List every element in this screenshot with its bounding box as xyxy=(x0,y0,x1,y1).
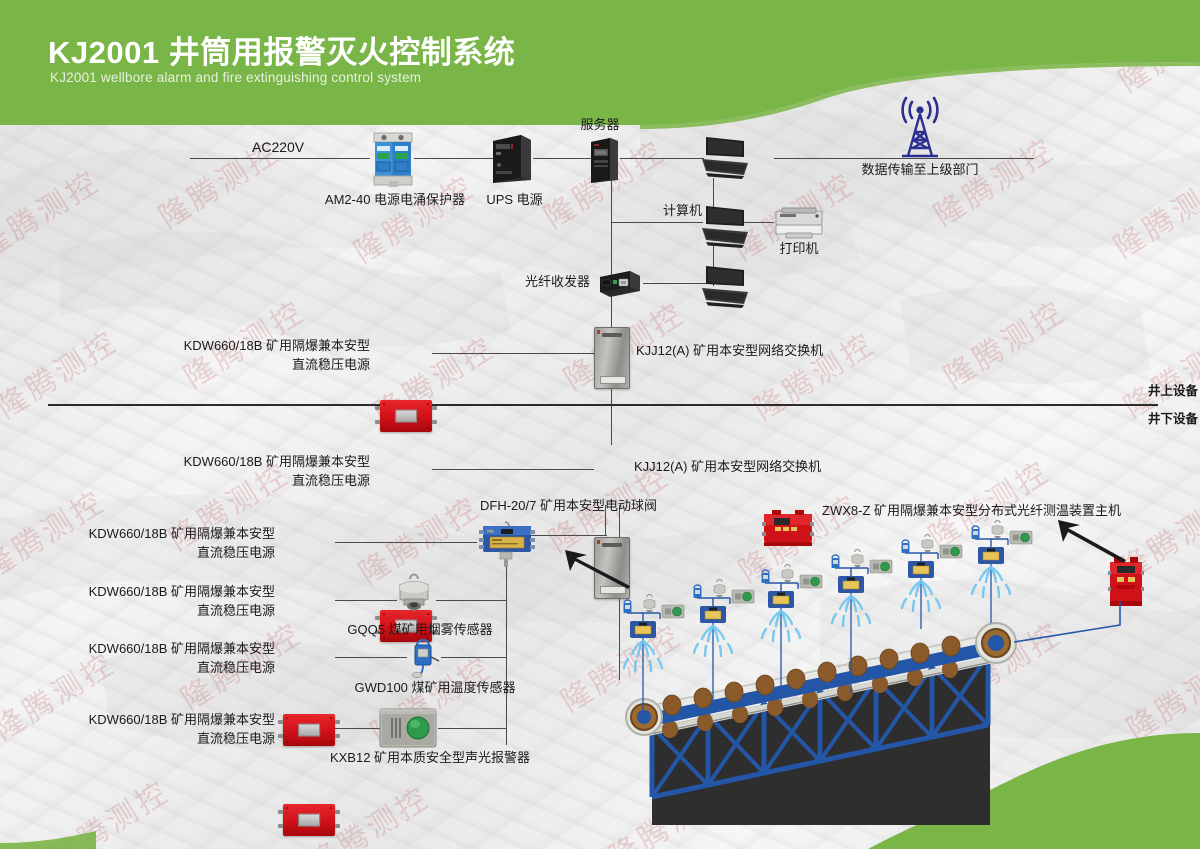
wire-spd-to-ups xyxy=(414,158,494,159)
ball-valve-dfh: MA xyxy=(475,520,539,568)
label-power-supply-underground-1: KDW660/18B 矿用隔爆兼本安型 直流稳压电源 xyxy=(110,452,370,490)
computer-workstation-3 xyxy=(700,264,752,310)
wire-psu-to-switch-surface xyxy=(432,353,594,354)
label-surface-equipment: 井上设备 xyxy=(1148,382,1198,401)
wire-fiber-to-pc3 xyxy=(643,283,707,284)
page-title: KJ2001 井筒用报警灭火控制系统 xyxy=(48,27,515,72)
temperature-sensor-gwd100 xyxy=(403,637,443,681)
diagram-canvas: 隆腾测控 隆腾测控 隆腾测控 隆腾测控 隆腾测控 隆腾测控 隆腾测控 隆腾测控 … xyxy=(0,0,1200,849)
label-alarm: KXB12 矿用本质安全型声光报警器 xyxy=(300,748,560,767)
label-power-supply-surface: KDW660/18B 矿用隔爆兼本安型 直流稳压电源 xyxy=(110,336,370,374)
label-power-supply-underground-4: KDW660/18B 矿用隔爆兼本安型 直流稳压电源 xyxy=(15,639,275,677)
wire-psu3-to-smoke xyxy=(335,600,397,601)
audible-visual-alarm-kxb12 xyxy=(378,707,438,749)
page-subtitle: KJ2001 wellbore alarm and fire extinguis… xyxy=(50,70,421,85)
label-ac-input: AC220V xyxy=(252,138,304,157)
wire-ac-to-spd xyxy=(190,158,370,159)
label-server: 服务器 xyxy=(560,115,640,134)
wire-smoke-to-trunk xyxy=(436,600,506,601)
wire-psu1-to-switch-underground xyxy=(432,469,594,470)
pointer-arrow-dts xyxy=(1050,518,1130,564)
surface-underground-divider xyxy=(48,404,1158,406)
label-power-supply-underground-5: KDW660/18B 矿用隔爆兼本安型 直流稳压电源 xyxy=(15,710,275,748)
antenna-tower-icon xyxy=(888,98,952,160)
label-smoke-sensor: GQQ5 煤矿用烟雾传感器 xyxy=(330,620,510,639)
label-power-supply-underground-3: KDW660/18B 矿用隔爆兼本安型 直流稳压电源 xyxy=(15,582,275,620)
wire-bus-to-pc2 xyxy=(611,222,703,223)
smoke-sensor-gqq5 xyxy=(392,573,436,621)
spd-device-am2-40 xyxy=(370,131,416,189)
svg-text:MA: MA xyxy=(487,529,495,535)
network-switch-surface xyxy=(594,327,630,389)
wire-psu4-to-temp xyxy=(335,657,407,658)
wire-server-to-pc1 xyxy=(620,158,704,159)
power-supply-underground-2 xyxy=(283,714,335,746)
wire-valve-down xyxy=(506,567,507,745)
label-temperature-sensor: GWD100 煤矿用温度传感器 xyxy=(340,678,530,697)
wire-alarm-to-trunk xyxy=(438,728,506,729)
wire-psu5-to-alarm xyxy=(335,728,380,729)
fiber-transceiver-device xyxy=(596,267,644,299)
printer-device xyxy=(772,207,826,241)
computer-workstation-2 xyxy=(700,204,752,250)
label-power-supply-underground-2: KDW660/18B 矿用隔爆兼本安型 直流稳压电源 xyxy=(15,524,275,562)
wire-psu2-to-valve xyxy=(335,542,477,543)
label-ups: UPS 电源 xyxy=(462,190,567,209)
power-supply-underground-3 xyxy=(283,804,335,836)
conveyor-belt-scene xyxy=(600,535,1200,849)
label-switch-surface: KJJ12(A) 矿用本安型网络交换机 xyxy=(636,341,823,360)
pointer-arrow-valve xyxy=(560,548,634,590)
wire-temp-to-trunk xyxy=(441,657,506,658)
label-printer: 打印机 xyxy=(760,239,838,258)
label-switch-underground: KJJ12(A) 矿用本安型网络交换机 xyxy=(634,457,821,476)
label-fiber-transceiver: 光纤收发器 xyxy=(478,272,590,291)
label-computer: 计算机 xyxy=(663,201,702,220)
label-underground-equipment: 井下设备 xyxy=(1148,410,1198,429)
power-supply-surface xyxy=(380,400,432,432)
server-device xyxy=(588,136,620,184)
label-ball-valve: DFH-20/7 矿用本安型电动球阀 xyxy=(480,496,657,515)
wire-trunk-surface-underground xyxy=(611,389,612,445)
label-data-transmission: 数据传输至上级部门 xyxy=(850,160,990,179)
ups-device xyxy=(487,133,533,185)
computer-workstation-1 xyxy=(700,135,752,181)
